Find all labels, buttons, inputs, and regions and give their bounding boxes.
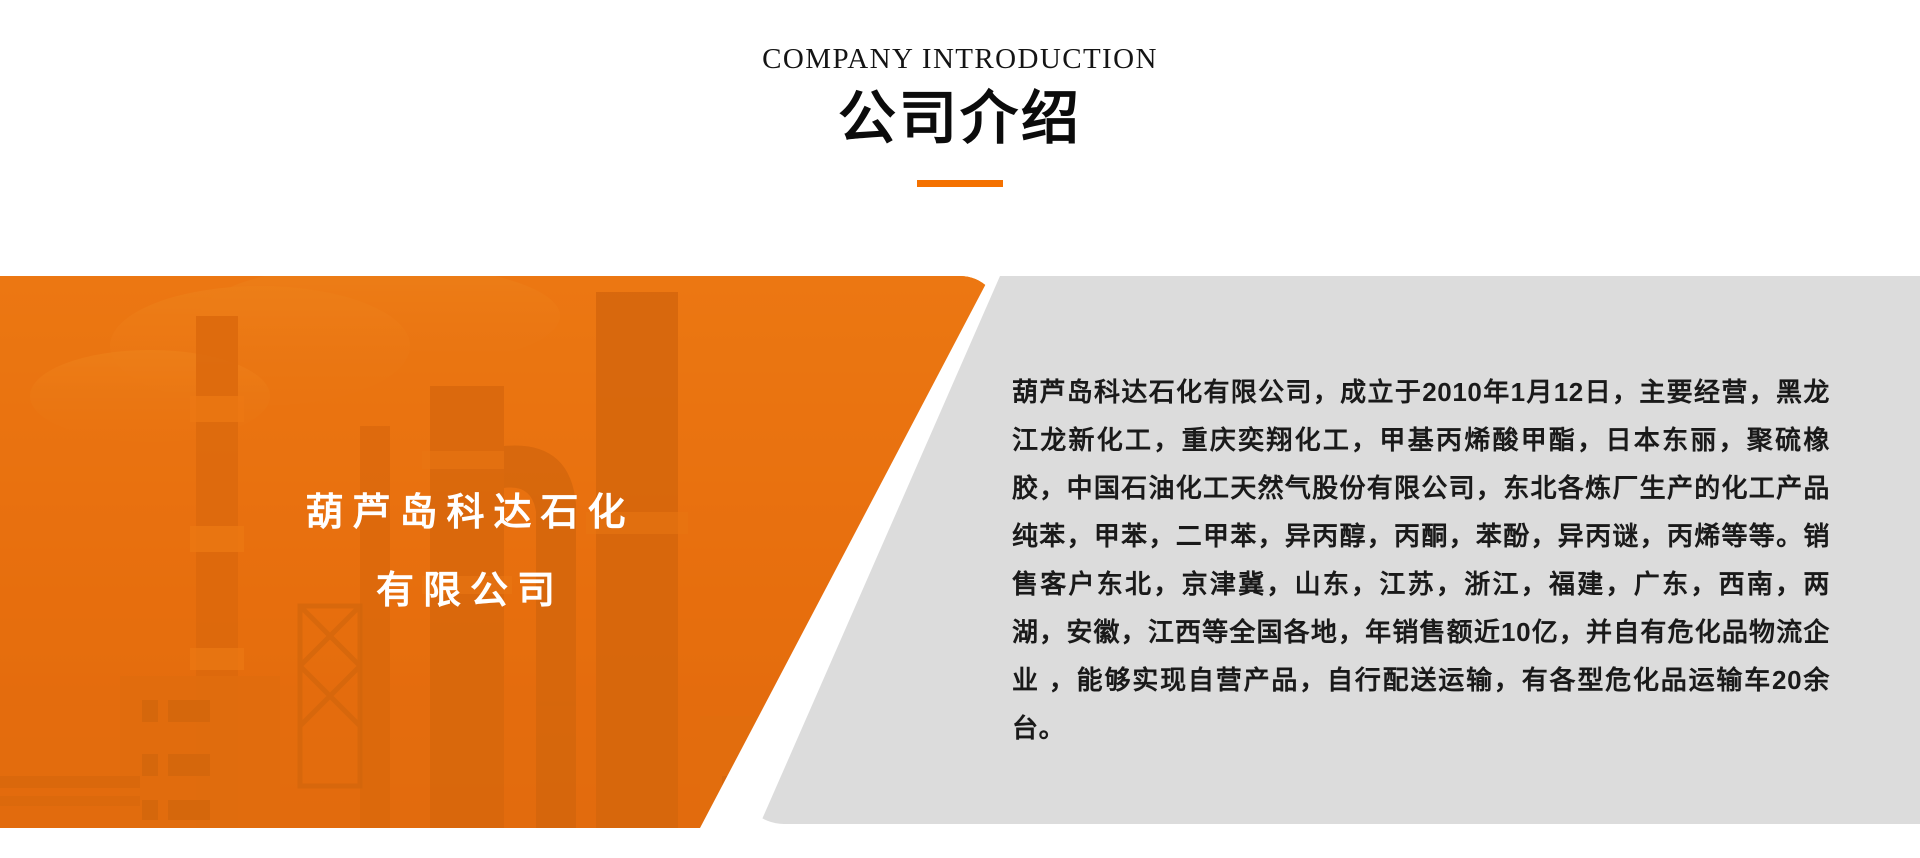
company-name: 葫芦岛科达石化 有限公司 bbox=[0, 276, 880, 828]
company-introduction-page: COMPANY INTRODUCTION 公司介绍 bbox=[0, 0, 1920, 858]
page-header: COMPANY INTRODUCTION 公司介绍 bbox=[0, 0, 1920, 230]
company-name-line-1: 葫芦岛科达石化 bbox=[305, 474, 634, 552]
header-eyebrow-en: COMPANY INTRODUCTION bbox=[0, 42, 1920, 76]
page-title: 公司介绍 bbox=[0, 83, 1920, 155]
content-blocks: 葫芦岛科达石化 有限公司 葫芦岛科达石化有限公司，成立于2010年1月12日，主… bbox=[0, 276, 1920, 836]
company-name-line-2: 有限公司 bbox=[376, 552, 564, 630]
company-intro-paragraph: 葫芦岛科达石化有限公司，成立于2010年1月12日，主要经营，黑龙江龙新化工，重… bbox=[1012, 368, 1830, 752]
title-underline-rule bbox=[917, 180, 1003, 187]
